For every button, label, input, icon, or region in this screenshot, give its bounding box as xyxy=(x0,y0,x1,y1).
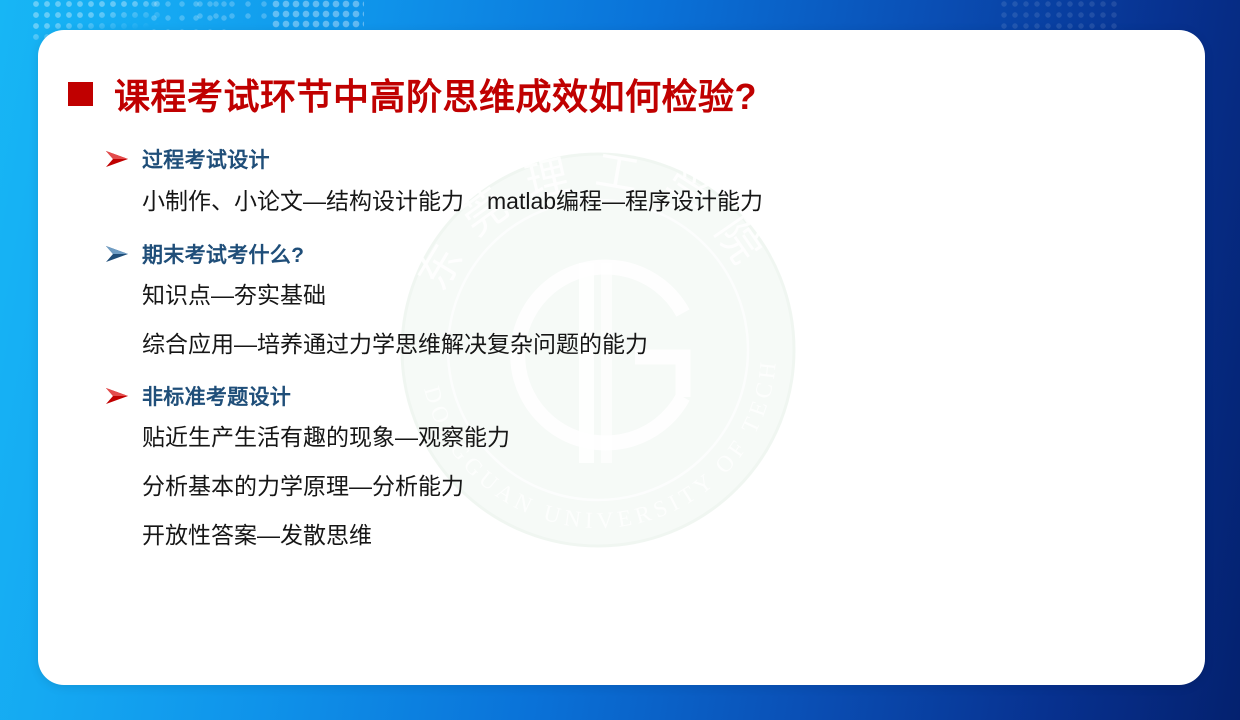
slide-content-card: 东莞理工学院 DONGGUAN UNIVERSITY OF TECHNOLOGY… xyxy=(38,30,1205,685)
section-block-2: 期末考试考什么? 知识点—夯实基础 综合应用—培养通过力学思维解决复杂问题的能力 xyxy=(104,237,1185,369)
presentation-slide: 东莞理工学院 DONGGUAN UNIVERSITY OF TECHNOLOGY… xyxy=(0,0,1240,720)
section-heading-row-3: 非标准考题设计 xyxy=(104,379,1185,413)
decorative-dot-pattern-center xyxy=(272,0,364,34)
section-line-3-3: 开放性答案—发散思维 xyxy=(142,511,1185,560)
arrow-right-bullet-icon xyxy=(104,386,130,406)
section-heading-row-1: 过程考试设计 xyxy=(104,142,1185,176)
arrow-right-bullet-icon xyxy=(104,244,130,264)
section-line-2-1: 知识点—夯实基础 xyxy=(142,271,1185,320)
section-heading-2: 期末考试考什么? xyxy=(142,239,304,269)
section-line-3-1: 贴近生产生活有趣的现象—观察能力 xyxy=(142,413,1185,462)
page-title-text: 课程考试环节中高阶思维成效如何检验? xyxy=(114,68,757,120)
section-block-1: 过程考试设计 小制作、小论文—结构设计能力 matlab编程—程序设计能力 xyxy=(104,142,1185,227)
decorative-dot-pattern-mid-left xyxy=(150,0,230,32)
section-line-3-2: 分析基本的力学原理—分析能力 xyxy=(142,462,1185,511)
section-heading-3: 非标准考题设计 xyxy=(142,381,291,411)
slide-body: 过程考试设计 小制作、小论文—结构设计能力 matlab编程—程序设计能力 期末… xyxy=(104,142,1185,560)
section-line-1-1: 小制作、小论文—结构设计能力 matlab编程—程序设计能力 xyxy=(142,176,1185,227)
section-block-3: 非标准考题设计 贴近生产生活有趣的现象—观察能力 分析基本的力学原理—分析能力 … xyxy=(104,379,1185,560)
decorative-dot-pattern-sparse xyxy=(196,0,276,22)
section-heading-row-2: 期末考试考什么? xyxy=(104,237,1185,271)
decorative-dot-pattern-right xyxy=(1000,0,1120,34)
page-title: 课程考试环节中高阶思维成效如何检验? xyxy=(68,68,757,120)
square-bullet-icon xyxy=(68,82,93,106)
section-heading-1: 过程考试设计 xyxy=(142,144,270,174)
section-line-2-2: 综合应用—培养通过力学思维解决复杂问题的能力 xyxy=(142,320,1185,369)
arrow-right-bullet-icon xyxy=(104,149,130,169)
